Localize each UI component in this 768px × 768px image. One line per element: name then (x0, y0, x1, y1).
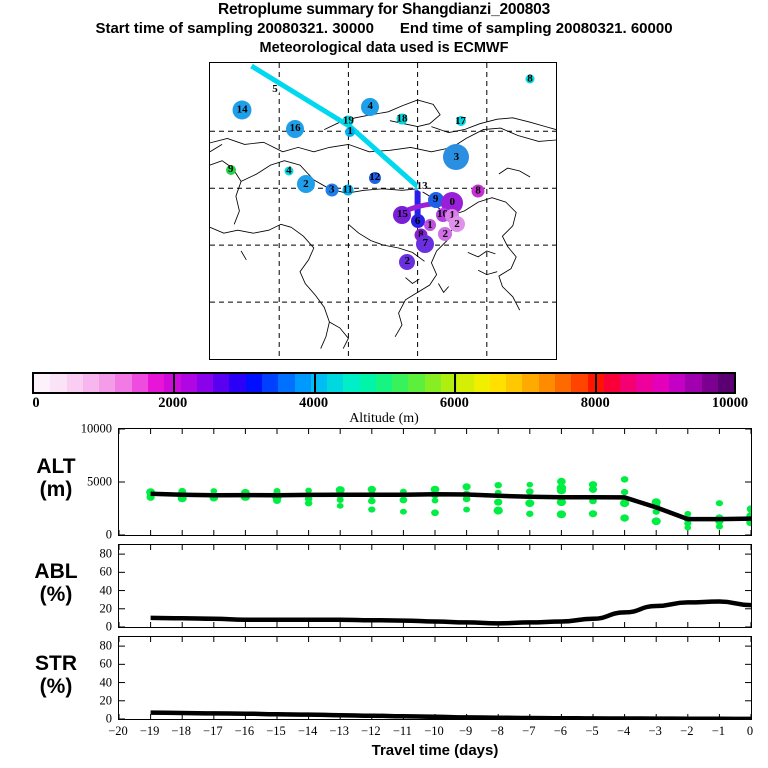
alt-scatter-point (525, 499, 534, 507)
y-tick-label: 20 (60, 693, 112, 708)
map-marker-label: 4 (286, 166, 292, 177)
map-panel[interactable]: 8514418171916139421231113890101512612872 (209, 62, 557, 360)
str-line (151, 713, 751, 719)
alt-scatter-point (620, 514, 629, 521)
map-marker-label: 2 (404, 256, 410, 267)
x-tick-label: −5 (585, 724, 598, 739)
alt-scatter-point (621, 476, 629, 483)
alt-scatter-point (463, 507, 470, 513)
alt-scatter-point (463, 483, 471, 490)
map-marker-label: 8 (527, 74, 533, 85)
x-axis-title: Travel time (days) (118, 742, 752, 759)
str-plot-panel[interactable] (118, 636, 752, 720)
map-marker[interactable]: 14 (233, 101, 252, 120)
x-tick-label: −13 (329, 724, 349, 739)
colorbar-swatch (99, 374, 115, 392)
map-marker[interactable]: 17 (456, 116, 466, 126)
sampling-times: Start time of sampling 20080321. 30000 E… (0, 19, 768, 39)
colorbar-swatch (425, 374, 441, 392)
colorbar-swatch (604, 374, 620, 392)
map-marker-label: 2 (443, 229, 449, 240)
alt-scatter-point (368, 506, 375, 512)
alt-scatter-point (400, 509, 407, 515)
colorbar-swatch (702, 374, 718, 392)
colorbar-swatch (197, 374, 213, 392)
end-time-label: End time of sampling 20080321. 60000 (400, 19, 673, 39)
map-marker-label: 9 (228, 164, 234, 175)
x-tick-label: −2 (680, 724, 693, 739)
colorbar-swatch (343, 374, 359, 392)
colorbar-swatch (181, 374, 197, 392)
x-tick-label: −15 (266, 724, 286, 739)
map-marker[interactable]: 9 (226, 165, 236, 175)
x-tick-label: −8 (491, 724, 504, 739)
colorbar-swatch (685, 374, 701, 392)
colorbar-swatch (490, 374, 506, 392)
y-tick-label: 5000 (60, 475, 112, 490)
colorbar-swatch (229, 374, 245, 392)
colorbar-swatch (408, 374, 424, 392)
alt-scatter-point (652, 517, 661, 525)
colorbar-tick-label: 0 (32, 395, 39, 412)
colorbar-swatch (718, 374, 734, 392)
map-marker-label: 1 (427, 220, 433, 231)
map-marker[interactable]: 1 (345, 127, 355, 137)
y-tick-label: 0 (60, 620, 112, 635)
x-tick-label: −6 (554, 724, 567, 739)
colorbar-swatch (392, 374, 408, 392)
colorbar-separator (173, 372, 175, 394)
alt-scatter-point (747, 505, 751, 512)
map-marker-label: 4 (367, 101, 373, 112)
map-marker-label: 3 (454, 152, 460, 163)
colorbar-swatch (327, 374, 343, 392)
colorbar-swatch (213, 374, 229, 392)
colorbar-swatch (555, 374, 571, 392)
abl-plot-svg (119, 545, 751, 627)
map-marker[interactable]: 3 (325, 184, 338, 197)
map-marker-label: 2 (303, 179, 309, 190)
map-marker[interactable]: 7 (416, 235, 434, 253)
x-tick-label: −17 (203, 724, 223, 739)
map-marker[interactable]: 8 (526, 75, 535, 84)
x-tick-label: −14 (298, 724, 318, 739)
y-tick-label: 80 (60, 547, 112, 562)
colorbar-title: Altitude (m) (0, 411, 768, 427)
colorbar-swatch (669, 374, 685, 392)
map-marker-label: 12 (369, 172, 380, 183)
alt-plot-panel[interactable] (118, 428, 752, 536)
alt-scatter-point (716, 500, 723, 506)
colorbar-swatch (360, 374, 376, 392)
map-marker[interactable]: 5 (270, 85, 280, 95)
map-marker-label: 9 (433, 194, 439, 205)
colorbar-swatch (148, 374, 164, 392)
alt-scatter-point (527, 482, 534, 488)
colorbar-swatch (246, 374, 262, 392)
alt-scatter-point (305, 488, 312, 494)
map-marker-label: 14 (237, 105, 248, 116)
map-marker-label: 7 (422, 238, 428, 249)
map-marker[interactable]: 16 (286, 120, 304, 138)
map-marker[interactable]: 1 (424, 219, 436, 231)
map-marker-label: 17 (455, 116, 466, 127)
str-plot-svg (119, 637, 751, 719)
map-marker[interactable]: 2 (297, 175, 315, 193)
map-marker[interactable]: 12 (369, 172, 381, 184)
colorbar-swatch (295, 374, 311, 392)
met-data-label: Meteorological data used is ECMWF (0, 39, 768, 58)
colorbar-swatch (457, 374, 473, 392)
colorbar-swatch (506, 374, 522, 392)
x-tick-label: 0 (747, 724, 753, 739)
x-tick-label: −18 (171, 724, 191, 739)
colorbar-swatch (132, 374, 148, 392)
map-marker-label: 16 (290, 123, 301, 134)
colorbar-tick-label: 4000 (299, 395, 328, 412)
abl-plot-panel[interactable] (118, 544, 752, 628)
alt-scatter-point (557, 478, 566, 485)
x-tick-label: −7 (522, 724, 535, 739)
abl-line (151, 602, 751, 624)
map-marker[interactable]: 15 (393, 206, 411, 224)
colorbar-swatch (539, 374, 555, 392)
alt-scatter-point (494, 507, 503, 515)
alt-scatter-point (526, 511, 533, 517)
alt-scatter-point (621, 489, 628, 495)
colorbar-swatch (50, 374, 66, 392)
colorbar-swatch (474, 374, 490, 392)
colorbar-separator (314, 372, 316, 394)
colorbar-swatch (83, 374, 99, 392)
map-marker[interactable]: 3 (443, 144, 469, 170)
colorbar-swatch (262, 374, 278, 392)
alt-mean-line (151, 494, 751, 519)
colorbar-swatch (571, 374, 587, 392)
map-marker[interactable]: 4 (284, 167, 293, 176)
alt-scatter-point (431, 509, 439, 516)
map-marker-label: 13 (417, 181, 428, 192)
alt-scatter-point (368, 486, 376, 493)
map-marker[interactable]: 18 (397, 114, 408, 125)
map-marker[interactable]: 6 (411, 214, 425, 228)
colorbar-tick-label: 2000 (158, 395, 187, 412)
colorbar-swatch (376, 374, 392, 392)
map-marker[interactable]: 2 (399, 254, 415, 270)
x-tick-label: −1 (712, 724, 725, 739)
alt-scatter-point (494, 499, 502, 506)
alt-scatter-point (210, 488, 217, 494)
x-tick-label: −3 (649, 724, 662, 739)
x-tick-label: −12 (361, 724, 381, 739)
y-tick-label: 40 (60, 583, 112, 598)
y-tick-label: 0 (60, 712, 112, 727)
map-marker[interactable]: 13 (417, 182, 427, 192)
colorbar-swatch (115, 374, 131, 392)
map-marker-label: 8 (475, 185, 481, 196)
colorbar-swatch (636, 374, 652, 392)
alt-scatter-point (589, 510, 597, 517)
y-tick-label: 10000 (60, 422, 112, 437)
colorbar-separator (454, 372, 456, 394)
alt-scatter-point (557, 510, 566, 518)
map-marker-label: 2 (454, 219, 460, 230)
alt-scatter-point (526, 488, 534, 495)
x-tick-label: −11 (393, 724, 412, 739)
y-tick-label: 0 (60, 528, 112, 543)
alt-scatter-point (368, 498, 376, 504)
map-marker-label: 6 (415, 216, 421, 227)
map-marker-label: 5 (272, 84, 278, 95)
colorbar (32, 372, 736, 394)
colorbar-tick-label: 6000 (440, 395, 469, 412)
colorbar-swatch (278, 374, 294, 392)
x-tick-label: −16 (235, 724, 255, 739)
start-time-label: Start time of sampling 20080321. 30000 (95, 19, 373, 39)
retroplume-figure: Retroplume summary for Shangdianzi_20080… (0, 0, 768, 768)
map-marker[interactable]: 2 (438, 227, 452, 241)
map-coastlines (210, 63, 556, 359)
alt-scatter-point (432, 498, 439, 504)
map-marker-label: 11 (343, 184, 353, 195)
x-tick-label: −19 (140, 724, 160, 739)
colorbar-swatch (620, 374, 636, 392)
y-tick-label: 60 (60, 565, 112, 580)
x-tick-label: −20 (108, 724, 128, 739)
title-block: Retroplume summary for Shangdianzi_20080… (0, 0, 768, 58)
colorbar-separator (595, 372, 597, 394)
alt-scatter-point (337, 503, 344, 509)
page-title: Retroplume summary for Shangdianzi_20080… (0, 0, 768, 19)
y-tick-label: 80 (60, 639, 112, 654)
map-marker[interactable]: 11 (342, 184, 353, 195)
map-marker[interactable]: 8 (472, 184, 485, 197)
x-tick-label: −10 (424, 724, 444, 739)
y-tick-label: 20 (60, 601, 112, 616)
map-marker-label: 18 (397, 114, 408, 125)
map-marker[interactable]: 4 (361, 98, 379, 116)
y-tick-label: 40 (60, 675, 112, 690)
alt-scatter-point (589, 481, 597, 488)
map-marker-label: 1 (347, 126, 353, 137)
map-marker-label: 3 (329, 185, 335, 196)
colorbar-tick-label: 10000 (712, 395, 748, 412)
alt-plot-svg (119, 429, 751, 535)
colorbar-tick-label: 8000 (581, 395, 610, 412)
y-tick-label: 60 (60, 657, 112, 672)
alt-scatter-point (494, 482, 502, 488)
map-marker-label: 15 (397, 209, 408, 220)
colorbar-swatch (522, 374, 538, 392)
map-marker-label: 0 (449, 197, 455, 208)
colorbar-swatch (653, 374, 669, 392)
x-tick-label: −9 (459, 724, 472, 739)
colorbar-swatch (67, 374, 83, 392)
colorbar-swatch (34, 374, 50, 392)
x-tick-label: −4 (617, 724, 630, 739)
